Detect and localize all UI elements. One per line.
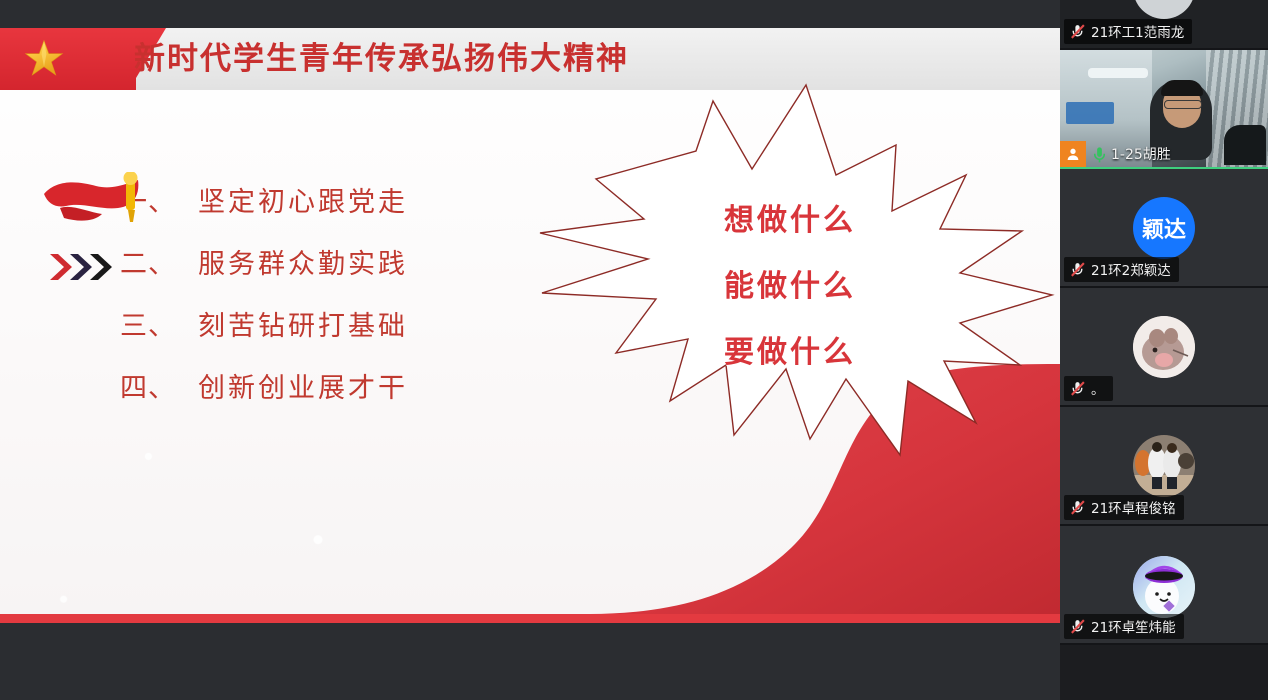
- bullet-item: 一、 坚定初心跟党走: [120, 180, 540, 242]
- participant-nameplate: 21环卓程俊铭: [1064, 495, 1184, 520]
- bullet-number: 四、: [120, 366, 198, 405]
- bullet-text: 坚定初心跟党走: [198, 180, 408, 219]
- conference-window: 新时代学生青年传承弘扬伟大精神 一、 坚定初: [0, 0, 1268, 700]
- participant-name: 1-25胡胜: [1109, 144, 1177, 164]
- mic-muted-icon: [1069, 618, 1086, 635]
- mic-muted-icon: [1069, 380, 1086, 397]
- bullet-text: 刻苦钻研打基础: [198, 304, 408, 343]
- five-pointed-star-icon: [24, 39, 64, 79]
- slide-title-bar: 新时代学生青年传承弘扬伟大精神: [0, 28, 1060, 90]
- participant-nameplate: 21环卓笙炜能: [1064, 614, 1184, 639]
- triple-chevron-icon: [48, 252, 114, 282]
- avatar: [1133, 435, 1195, 497]
- mic-muted-icon: [1069, 499, 1086, 516]
- participant-nameplate: 。: [1064, 376, 1113, 401]
- participant-nameplate: 1-25胡胜: [1060, 141, 1177, 167]
- avatar: [1133, 556, 1195, 618]
- participant-name: 21环工1范雨龙: [1091, 21, 1184, 41]
- mic-unmuted-icon: [1090, 145, 1109, 164]
- bullet-text: 创新创业展才干: [198, 366, 408, 405]
- participant-video-strip[interactable]: 21环工1范雨龙: [1060, 0, 1268, 700]
- participant-nameplate: 21环工1范雨龙: [1064, 19, 1192, 44]
- slide-bullet-list: 一、 坚定初心跟党走 二、 服务群众勤实践 三、 刻苦钻研打基础 四、 创新创业…: [120, 180, 540, 428]
- bullet-number: 二、: [120, 242, 198, 281]
- presentation-slide[interactable]: 新时代学生青年传承弘扬伟大精神 一、 坚定初: [0, 28, 1060, 623]
- participant-tile[interactable]: 。: [1060, 288, 1268, 407]
- participant-name: 21环卓笙炜能: [1091, 616, 1176, 636]
- mic-muted-icon: [1069, 23, 1086, 40]
- participant-tile[interactable]: 21环卓笙炜能: [1060, 526, 1268, 645]
- mic-muted-icon: [1069, 261, 1086, 278]
- starburst-shape: [520, 83, 1060, 483]
- host-person-icon: [1060, 141, 1086, 167]
- bullet-item: 三、 刻苦钻研打基础: [120, 304, 540, 366]
- page-title: 新时代学生青年传承弘扬伟大精神: [134, 28, 629, 90]
- red-flag-torch-icon: [42, 172, 152, 232]
- avatar: 颖达: [1133, 197, 1195, 259]
- participant-tile[interactable]: 21环工1范雨龙: [1060, 0, 1268, 50]
- slide-title-banner: [0, 28, 136, 90]
- participant-tile[interactable]: 颖达 21环2郑颖达: [1060, 169, 1268, 288]
- bullet-number: 三、: [120, 304, 198, 343]
- shared-screen-area[interactable]: 新时代学生青年传承弘扬伟大精神 一、 坚定初: [0, 0, 1060, 700]
- participant-name: 21环2郑颖达: [1091, 259, 1171, 279]
- avatar-initials: 颖达: [1142, 212, 1186, 244]
- avatar: [1133, 316, 1195, 378]
- bullet-text: 服务群众勤实践: [198, 242, 408, 281]
- avatar: [1133, 0, 1195, 19]
- participant-nameplate: 21环2郑颖达: [1064, 257, 1179, 282]
- bullet-item: 二、 服务群众勤实践: [120, 242, 540, 304]
- participant-name: 21环卓程俊铭: [1091, 497, 1176, 517]
- participant-tile[interactable]: 21环卓程俊铭: [1060, 407, 1268, 526]
- bullet-item: 四、 创新创业展才干: [120, 366, 540, 428]
- participant-name: 。: [1091, 378, 1105, 398]
- participant-tile-active[interactable]: 1-25胡胜: [1060, 50, 1268, 169]
